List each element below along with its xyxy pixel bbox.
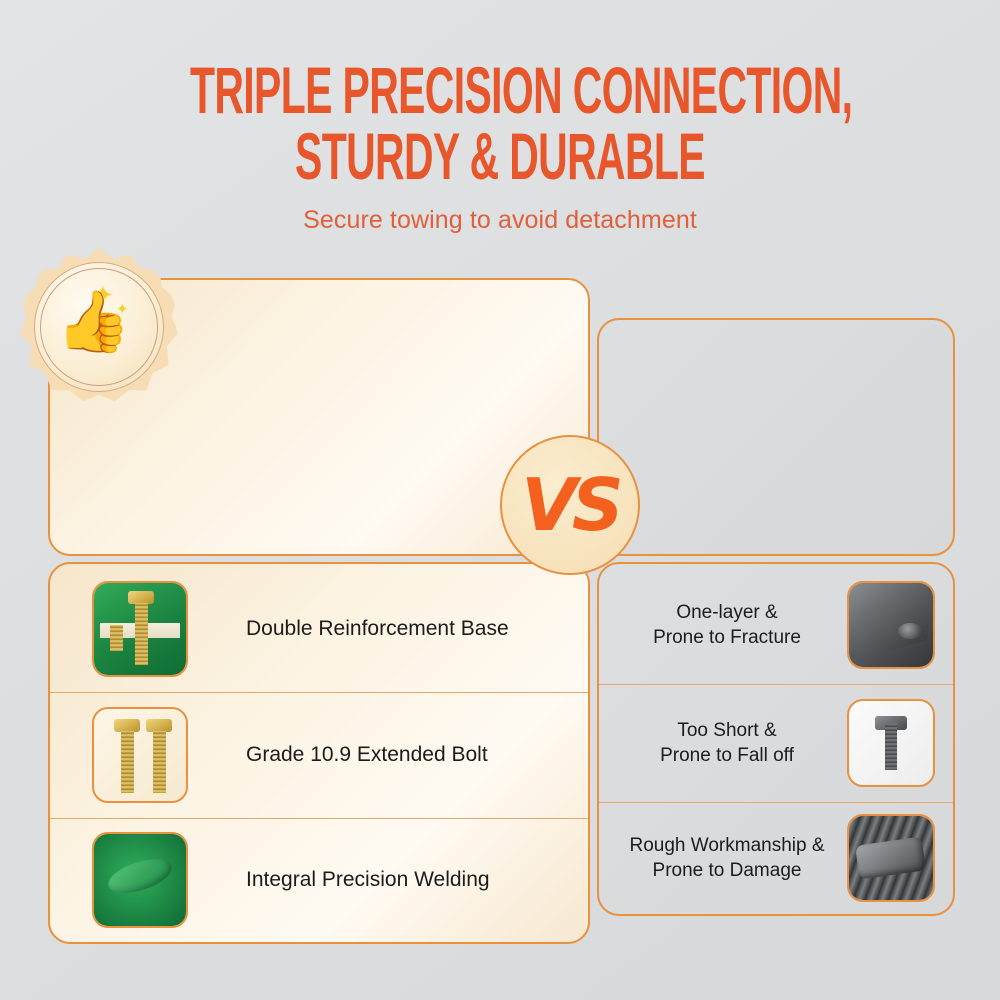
feature-thumb-precision-welding [92,832,188,928]
feature-row-bad-1: One-layer & Prone to Fracture [599,566,953,684]
feature-thumb-double-base [92,581,188,677]
feature-label-bad-3: Rough Workmanship & Prone to Damage [599,833,847,883]
feature-label-good-1: Double Reinforcement Base [246,617,509,641]
hero-panel-bad [597,318,955,556]
feature-label-good-2: Grade 10.9 Extended Bolt [246,743,488,767]
feature-label-bad-2: Too Short & Prone to Fall off [599,718,847,768]
page-title-line-1: TRIPLE PRECISION CONNECTION, [190,58,810,122]
feature-label-bad-2-line1: Too Short & [607,718,847,743]
feature-label-bad-3-line1: Rough Workmanship & [607,833,847,858]
feature-row-good-3: Integral Precision Welding [50,818,588,942]
feature-label-good-3: Integral Precision Welding [246,868,490,892]
features-panel-bad: One-layer & Prone to Fracture Too Short … [597,562,955,916]
features-panel-good: Double Reinforcement Base Grade 10.9 Ext… [48,562,590,944]
feature-label-bad-1-line2: Prone to Fracture [607,625,847,650]
thumbs-up-icon: 👍 [56,292,131,352]
feature-label-bad-2-line2: Prone to Fall off [607,743,847,768]
feature-thumb-short-bolt [847,699,935,787]
feature-label-bad-1-line1: One-layer & [607,600,847,625]
feature-thumb-extended-bolts [92,707,188,803]
feature-thumb-one-layer-plate [847,581,935,669]
feature-label-bad-3-line2: Prone to Damage [607,858,847,883]
feature-row-good-1: Double Reinforcement Base [50,566,588,692]
page-subtitle: Secure towing to avoid detachment [0,206,1000,235]
feature-row-good-2: Grade 10.9 Extended Bolt [50,692,588,818]
vs-badge: VS [500,435,640,575]
vs-label: VS [521,469,619,541]
feature-thumb-rough-workmanship [847,814,935,902]
feature-row-bad-2: Too Short & Prone to Fall off [599,684,953,802]
quality-badge: ✦ ✦ 👍 [20,248,178,406]
page-title-line-2: STURDY & DURABLE [190,124,810,188]
header-block: TRIPLE PRECISION CONNECTION, STURDY & DU… [0,58,1000,235]
feature-label-bad-1: One-layer & Prone to Fracture [599,600,847,650]
feature-row-bad-3: Rough Workmanship & Prone to Damage [599,802,953,914]
